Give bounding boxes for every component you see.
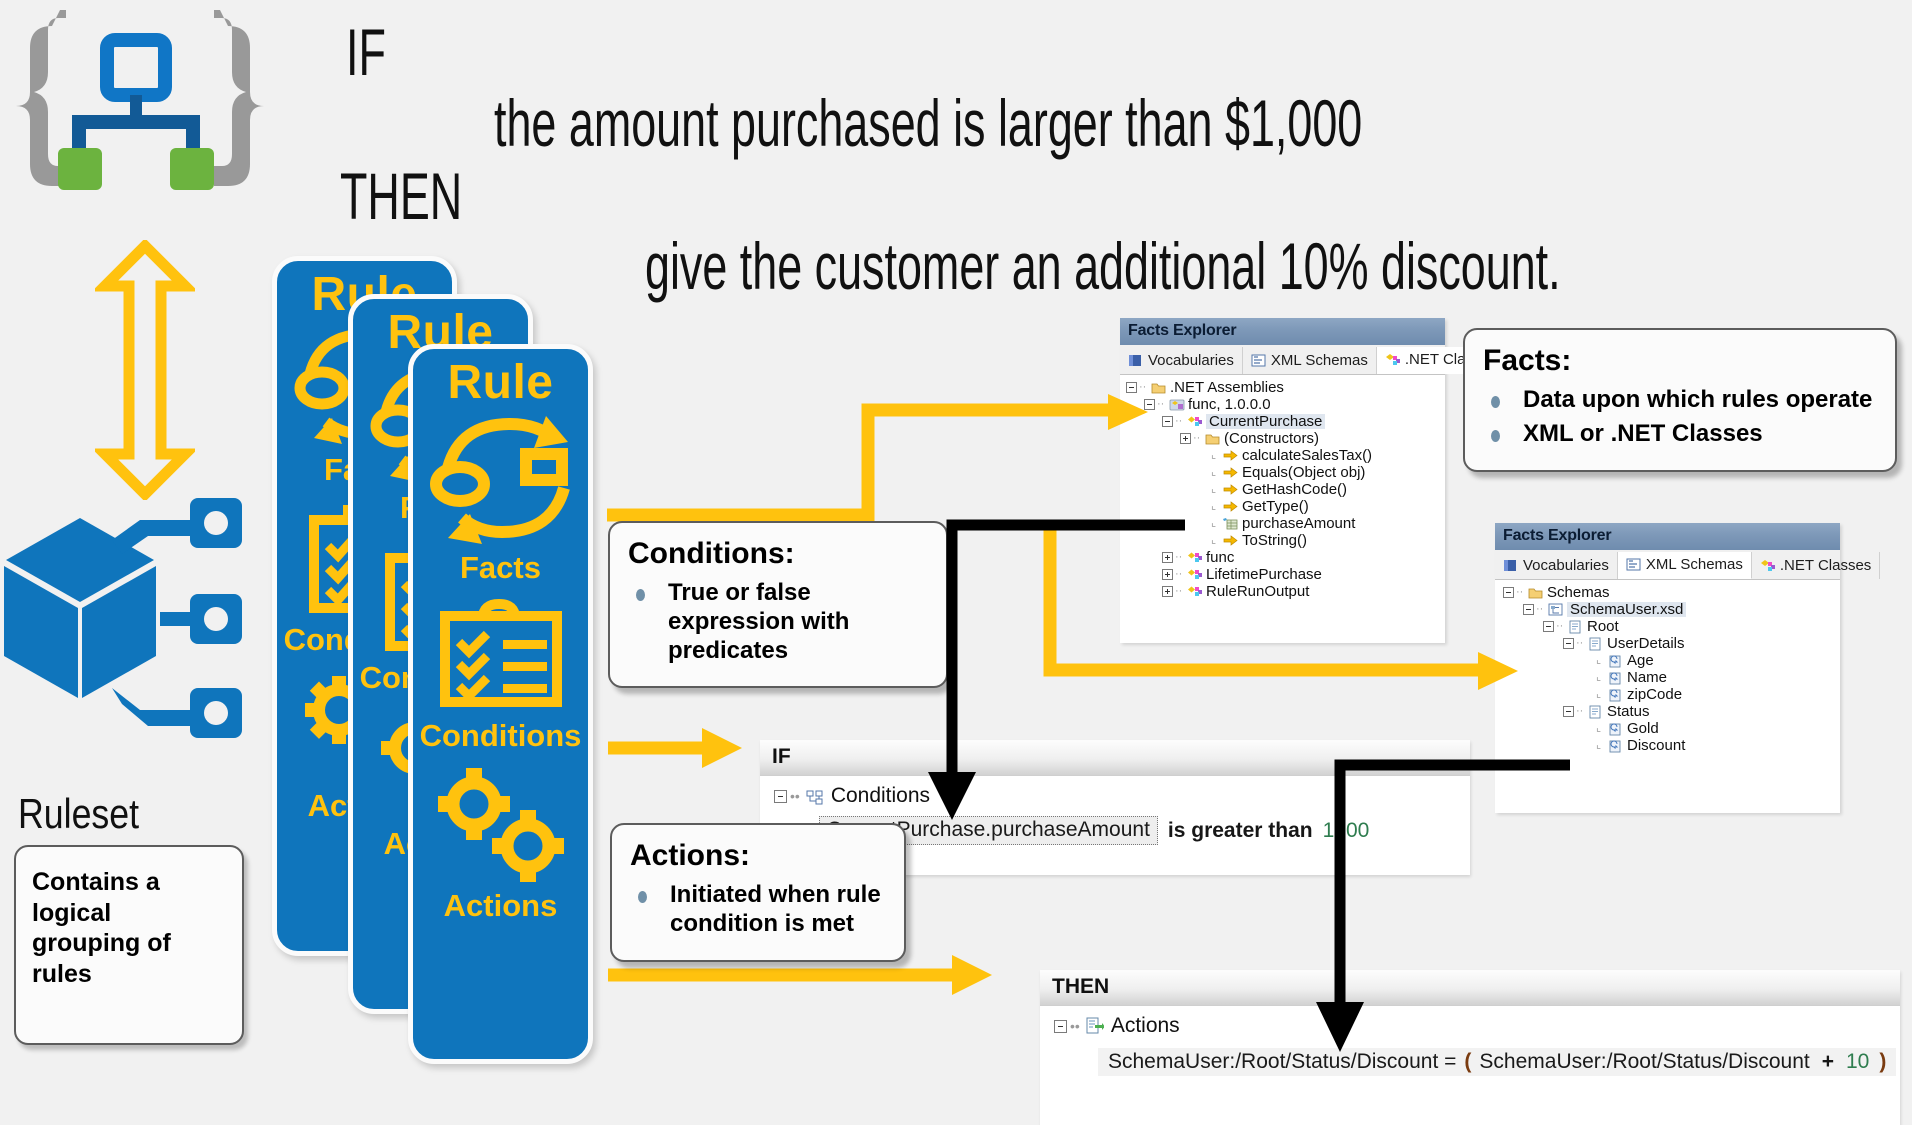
tree-line-dots: ⌞ — [1596, 655, 1608, 666]
bidirectional-arrow-icon — [95, 240, 195, 500]
class-icon — [1187, 568, 1202, 581]
ruleset-cube-icon — [0, 470, 270, 770]
ruleset-note: Contains a logical grouping of rules — [14, 845, 244, 1045]
facts-callout: Facts: Data upon which rules operate XML… — [1463, 328, 1897, 472]
conditions-clipboard-icon — [413, 598, 588, 718]
folder-icon — [1151, 381, 1166, 394]
tree-node[interactable]: ··func — [1120, 549, 1445, 566]
tree-node-label: .NET Assemblies — [1170, 380, 1284, 395]
actions-gears-icon — [413, 760, 588, 888]
tree-node-label: Gold — [1627, 721, 1659, 736]
rule-section-actions: Actions — [413, 888, 588, 924]
actions-node-row[interactable]: •• Actions — [1040, 1014, 1900, 1038]
tree-node[interactable]: ··Schemas — [1495, 584, 1840, 601]
tree-node-label: Status — [1607, 704, 1650, 719]
facts-explorer-net-tree[interactable]: ··.NET Assemblies··func, 1.0.0.0··Curren… — [1120, 375, 1445, 606]
assembly-icon — [1169, 398, 1184, 411]
tree-node[interactable]: ··.NET Assemblies — [1120, 379, 1445, 396]
then-editor-header: THEN — [1040, 970, 1900, 1006]
action-text: give the customer an additional 10% disc… — [645, 228, 1561, 304]
tree-line-dots: ⌞ — [1211, 484, 1223, 495]
class-icon — [1187, 551, 1202, 564]
collapse-toggle-icon[interactable] — [1543, 621, 1554, 632]
tree-node[interactable]: ⌞calculateSalesTax() — [1120, 447, 1445, 464]
tree-node-label: purchaseAmount — [1242, 516, 1355, 531]
collapse-toggle-icon[interactable] — [1523, 604, 1534, 615]
tree-line-dots: ⌞ — [1211, 467, 1223, 478]
tree-node[interactable]: ⌞ToString() — [1120, 532, 1445, 549]
tree-node-label: LifetimePurchase — [1206, 567, 1322, 582]
doc-icon — [1588, 705, 1603, 718]
facts-callout-heading: Facts: — [1483, 344, 1875, 378]
expand-toggle-icon[interactable] — [1180, 433, 1191, 444]
method-icon — [1223, 466, 1238, 479]
rule-section-conditions: Conditions — [413, 718, 588, 754]
tree-node[interactable]: ··UserDetails — [1495, 635, 1840, 652]
tree-node[interactable]: ⌞purchaseAmount — [1120, 515, 1445, 532]
facts-explorer-tabs: Vocabularies XML Schemas .NET Classes — [1120, 345, 1445, 375]
tab-net-classes[interactable]: .NET Classes — [1752, 552, 1880, 579]
tree-node-label: func, 1.0.0.0 — [1188, 397, 1271, 412]
tree-node[interactable]: ⌞Discount — [1495, 737, 1840, 754]
tree-node[interactable]: ··CurrentPurchase — [1120, 413, 1445, 430]
book-icon — [1128, 354, 1143, 367]
plus-operator: + — [1822, 1050, 1834, 1074]
tab-xml-schemas[interactable]: XML Schemas — [1618, 552, 1752, 579]
tree-node-label: Discount — [1627, 738, 1685, 753]
collapse-toggle-icon[interactable] — [1126, 382, 1137, 393]
if-keyword: IF — [346, 14, 386, 90]
attr-icon — [1608, 688, 1623, 701]
facts-explorer-xml-window: Facts Explorer Vocabularies XML Schemas … — [1495, 523, 1840, 813]
tree-node[interactable]: ⌞zipCode — [1495, 686, 1840, 703]
collapse-toggle-icon[interactable] — [1503, 587, 1514, 598]
conditions-node-row[interactable]: •• Conditions — [760, 784, 1470, 808]
method-icon — [1223, 534, 1238, 547]
tree-node-label: SchemaUser.xsd — [1567, 602, 1686, 617]
tree-node-label: Schemas — [1547, 585, 1610, 600]
attr-icon — [1608, 722, 1623, 735]
action-target[interactable]: SchemaUser:/Root/Status/Discount = — [1108, 1050, 1456, 1074]
list-item: True or false expression with predicates — [628, 579, 926, 665]
list-item: Data upon which rules operate — [1483, 386, 1875, 415]
tree-node[interactable]: ⌞Gold — [1495, 720, 1840, 737]
condition-value[interactable]: 1000 — [1323, 819, 1370, 843]
rule-card-title: Rule — [413, 355, 588, 410]
tree-node-label: CurrentPurchase — [1206, 414, 1325, 429]
conditions-callout: Conditions: True or false expression wit… — [608, 521, 948, 688]
collapse-toggle-icon[interactable] — [1162, 416, 1173, 427]
schema-icon — [1626, 558, 1641, 571]
tree-node-label: zipCode — [1627, 687, 1682, 702]
class-icon — [1187, 585, 1202, 598]
tree-node-label: Root — [1587, 619, 1619, 634]
open-paren: ( — [1464, 1050, 1471, 1074]
tree-line-dots: ⌞ — [1211, 535, 1223, 546]
actions-callout: Actions: Initiated when rule condition i… — [610, 823, 906, 962]
tree-node[interactable]: ··func, 1.0.0.0 — [1120, 396, 1445, 413]
then-editor-pane: THEN •• Actions SchemaUser:/Root/Status/… — [1040, 970, 1900, 1125]
tab-vocabularies[interactable]: Vocabularies — [1495, 552, 1618, 579]
tree-line-dots: ·· — [1175, 569, 1187, 580]
classes-icon — [1385, 353, 1400, 366]
tab-label: .NET Classes — [1780, 557, 1871, 574]
action-expression-row[interactable]: SchemaUser:/Root/Status/Discount = ( Sch… — [1098, 1048, 1896, 1076]
tree-line-dots: ⌞ — [1211, 450, 1223, 461]
tree-line-dots: ⌞ — [1596, 723, 1608, 734]
close-paren: ) — [1879, 1050, 1886, 1074]
ruleset-label: Ruleset — [18, 790, 139, 838]
tab-label: Vocabularies — [1148, 352, 1234, 369]
schema-icon — [1251, 354, 1266, 367]
tree-line-dots: ·· — [1157, 399, 1169, 410]
tree-node[interactable]: ··RuleRunOutput — [1120, 583, 1445, 600]
conditions-callout-list: True or false expression with predicates — [628, 579, 926, 665]
tree-node[interactable]: ··(Constructors) — [1120, 430, 1445, 447]
facts-explorer-tabs: Vocabularies XML Schemas .NET Classes — [1495, 550, 1840, 580]
tree-node-label: Name — [1627, 670, 1667, 685]
field-icon — [1223, 517, 1238, 530]
tree-node[interactable]: ⌞Name — [1495, 669, 1840, 686]
tree-line-dots: ·· — [1576, 706, 1588, 717]
attr-icon — [1608, 671, 1623, 684]
classes-icon — [1760, 559, 1775, 572]
expand-toggle-icon[interactable] — [1162, 586, 1173, 597]
attr-icon — [1608, 739, 1623, 752]
collapse-toggle-icon[interactable] — [1563, 638, 1574, 649]
tree-line-dots: ⌞ — [1596, 740, 1608, 751]
tree-node[interactable]: ··Root — [1495, 618, 1840, 635]
tree-node-label: (Constructors) — [1224, 431, 1319, 446]
tab-label: XML Schemas — [1646, 556, 1743, 573]
folder-icon — [1528, 586, 1543, 599]
tree-line-dots: ·· — [1175, 416, 1187, 427]
attr-icon — [1608, 654, 1623, 667]
book-icon — [1503, 559, 1518, 572]
tab-vocabularies[interactable]: Vocabularies — [1120, 347, 1243, 374]
tree-node[interactable]: ⌞GetType() — [1120, 498, 1445, 515]
tree-node[interactable]: ··LifetimePurchase — [1120, 566, 1445, 583]
facts-explorer-xml-tree[interactable]: ··Schemas··SchemaUser.xsd··Root··UserDet… — [1495, 580, 1840, 760]
method-icon — [1223, 449, 1238, 462]
collapse-toggle-icon[interactable] — [1144, 399, 1155, 410]
rule-card[interactable]: Rule Facts Conditions — [408, 344, 593, 1064]
tree-line-dots: ·· — [1576, 638, 1588, 649]
tree-node-label: GetHashCode() — [1242, 482, 1347, 497]
tree-line-dots: ·· — [1516, 587, 1528, 598]
tab-xml-schemas[interactable]: XML Schemas — [1243, 347, 1377, 374]
expand-toggle-icon[interactable] — [1162, 569, 1173, 580]
doc-icon — [1568, 620, 1583, 633]
list-item: Initiated when rule condition is met — [630, 881, 884, 939]
conditions-node-label: Conditions — [831, 784, 930, 808]
condition-operator[interactable]: is greater than — [1168, 819, 1313, 843]
tree-line-dots: ·· — [1556, 621, 1568, 632]
tree-node-label: GetType() — [1242, 499, 1309, 514]
rule-section-facts: Facts — [413, 550, 588, 586]
facts-explorer-net-window: Facts Explorer Vocabularies XML Schemas … — [1120, 318, 1445, 643]
actions-callout-heading: Actions: — [630, 839, 884, 873]
facts-explorer-title: Facts Explorer — [1495, 523, 1840, 550]
tree-node[interactable]: ··Status — [1495, 703, 1840, 720]
tree-line-dots: ·· — [1139, 382, 1151, 393]
schema-icon — [1548, 603, 1563, 616]
tree-node[interactable]: ⌞Age — [1495, 652, 1840, 669]
tree-node[interactable]: ⌞Equals(Object obj) — [1120, 464, 1445, 481]
if-editor-header: IF — [760, 740, 1470, 776]
list-item: XML or .NET Classes — [1483, 420, 1875, 449]
tab-label: XML Schemas — [1271, 352, 1368, 369]
tree-line-dots: ⌞ — [1211, 501, 1223, 512]
tree-line-dots: ·· — [1175, 586, 1187, 597]
facts-callout-list: Data upon which rules operate XML or .NE… — [1483, 386, 1875, 449]
tree-node-label: UserDetails — [1607, 636, 1685, 651]
folder-icon — [1205, 432, 1220, 445]
collapse-toggle-icon[interactable] — [774, 790, 787, 803]
tree-line-dots: ⌞ — [1596, 689, 1608, 700]
action-value[interactable]: 10 — [1846, 1050, 1869, 1074]
tree-line-dots: ·· — [1193, 433, 1205, 444]
expand-toggle-icon[interactable] — [1162, 552, 1173, 563]
tree-node-label: Equals(Object obj) — [1242, 465, 1365, 480]
tree-node-label: Age — [1627, 653, 1654, 668]
collapse-toggle-icon[interactable] — [1563, 706, 1574, 717]
class-icon — [1187, 415, 1202, 428]
tree-line-dots: ⌞ — [1211, 518, 1223, 529]
actions-callout-list: Initiated when rule condition is met — [630, 881, 884, 939]
method-icon — [1223, 483, 1238, 496]
actions-node-label: Actions — [1111, 1014, 1180, 1038]
method-icon — [1223, 500, 1238, 513]
tree-node-label: RuleRunOutput — [1206, 584, 1309, 599]
then-keyword: THEN — [340, 158, 462, 234]
collapse-toggle-icon[interactable] — [1054, 1020, 1067, 1033]
facts-cycle-icon — [413, 410, 588, 550]
tree-node-label: calculateSalesTax() — [1242, 448, 1372, 463]
tab-label: Vocabularies — [1523, 557, 1609, 574]
tree-node[interactable]: ··SchemaUser.xsd — [1495, 601, 1840, 618]
conditions-node-icon — [806, 788, 824, 804]
conditions-callout-heading: Conditions: — [628, 537, 926, 571]
condition-text: the amount purchased is larger than $1,0… — [494, 85, 1362, 161]
tree-line-dots: ·· — [1536, 604, 1548, 615]
facts-explorer-title: Facts Explorer — [1120, 318, 1445, 345]
tree-node-label: ToString() — [1242, 533, 1307, 548]
tree-line-dots: ⌞ — [1596, 672, 1608, 683]
tree-node[interactable]: ⌞GetHashCode() — [1120, 481, 1445, 498]
tree-node-label: func — [1206, 550, 1234, 565]
action-source[interactable]: SchemaUser:/Root/Status/Discount — [1479, 1050, 1809, 1074]
doc-icon — [1588, 637, 1603, 650]
ruleset-braces-icon — [10, 10, 270, 230]
actions-node-icon — [1086, 1017, 1104, 1035]
tree-line-dots: ·· — [1175, 552, 1187, 563]
